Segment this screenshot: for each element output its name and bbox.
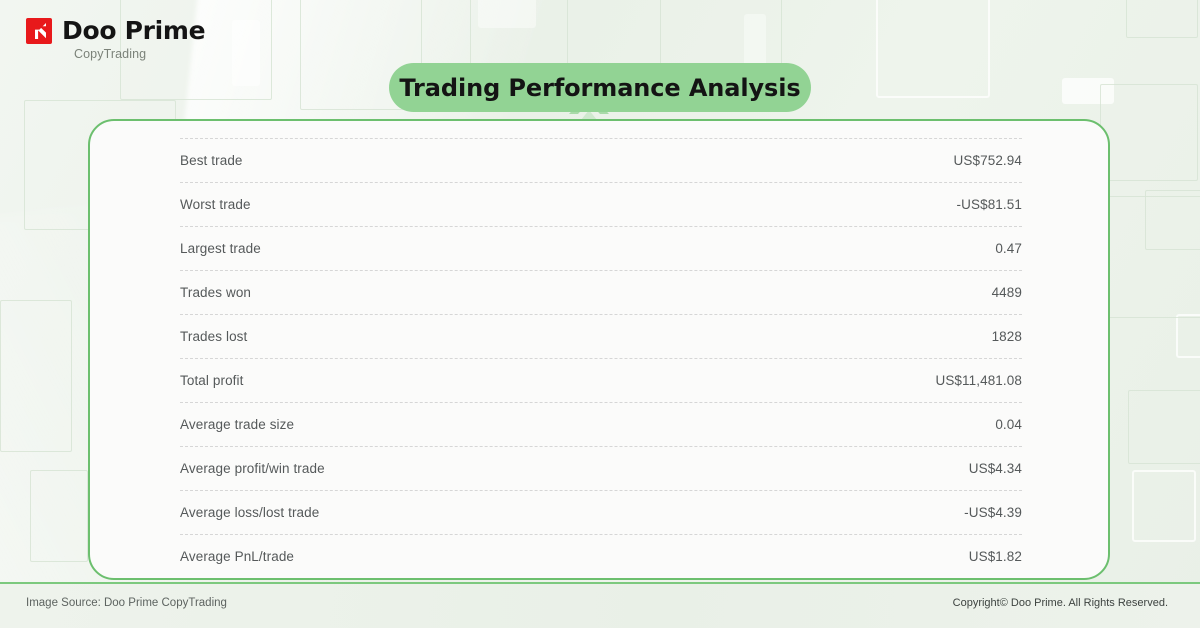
metric-label: Average loss/lost trade [180, 505, 319, 520]
deco-square [1128, 390, 1200, 464]
footer: Image Source: Doo Prime CopyTrading Copy… [0, 584, 1200, 628]
deco-square [1126, 0, 1198, 38]
deco-square [1176, 314, 1200, 358]
doo-prime-flag-icon [26, 18, 52, 44]
deco-square [478, 0, 536, 28]
table-row: Worst trade-US$81.51 [180, 182, 1022, 226]
image-source-text: Image Source: Doo Prime CopyTrading [26, 597, 227, 609]
metric-label: Average PnL/trade [180, 549, 294, 564]
metric-label: Worst trade [180, 197, 251, 212]
deco-square [876, 0, 990, 98]
deco-square [1132, 470, 1196, 542]
deco-square [744, 14, 766, 68]
metric-value: -US$4.39 [964, 505, 1022, 520]
metric-value: 4489 [992, 285, 1022, 300]
brand-product: CopyTrading [74, 47, 205, 61]
metric-value: 0.47 [995, 241, 1022, 256]
table-row: Average trade size0.04 [180, 402, 1022, 446]
metric-label: Average trade size [180, 417, 294, 432]
deco-square [1100, 84, 1198, 181]
metric-value: US$4.34 [969, 461, 1022, 476]
table-row: Total profitUS$11,481.08 [180, 358, 1022, 402]
table-row: Trades lost1828 [180, 314, 1022, 358]
brand-name: Doo Prime [62, 16, 205, 45]
page-title-pill: Trading Performance Analysis [389, 63, 811, 112]
metric-value: US$752.94 [954, 153, 1022, 168]
metric-value: US$11,481.08 [935, 373, 1022, 388]
metric-value: 0.04 [995, 417, 1022, 432]
metric-label: Best trade [180, 153, 243, 168]
table-row: Average profit/win tradeUS$4.34 [180, 446, 1022, 490]
table-row: Largest trade0.47 [180, 226, 1022, 270]
metric-label: Total profit [180, 373, 243, 388]
table-row: Trades won4489 [180, 270, 1022, 314]
metric-label: Trades lost [180, 329, 247, 344]
statistics-card: Best tradeUS$752.94Worst trade-US$81.51L… [88, 119, 1110, 580]
brand-logo: Doo Prime CopyTrading [26, 16, 205, 61]
statistics-table: Best tradeUS$752.94Worst trade-US$81.51L… [180, 138, 1022, 579]
table-row: Best tradeUS$752.94 [180, 138, 1022, 182]
deco-square [0, 300, 72, 452]
page-title: Trading Performance Analysis [399, 74, 800, 102]
metric-label: Largest trade [180, 241, 261, 256]
copyright-text: Copyright© Doo Prime. All Rights Reserve… [953, 597, 1168, 609]
metric-value: -US$81.51 [957, 197, 1022, 212]
metric-value: 1828 [992, 329, 1022, 344]
metric-label: Average profit/win trade [180, 461, 325, 476]
metric-value: US$1.82 [969, 549, 1022, 564]
table-row: Average PnL/tradeUS$1.82 [180, 534, 1022, 579]
table-row: Average loss/lost trade-US$4.39 [180, 490, 1022, 534]
metric-label: Trades won [180, 285, 251, 300]
deco-square [30, 470, 88, 562]
